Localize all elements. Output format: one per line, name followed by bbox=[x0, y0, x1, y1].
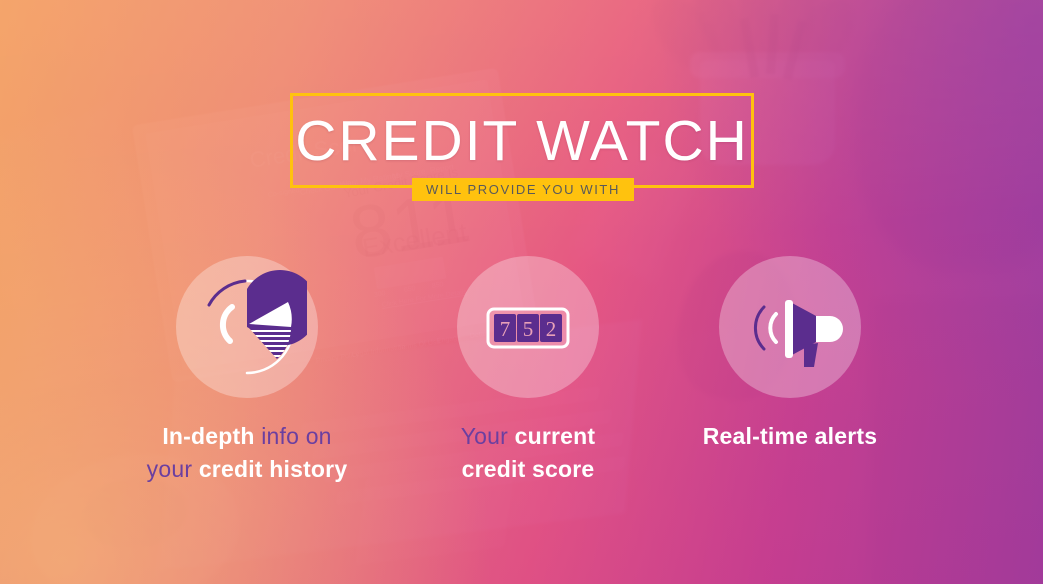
caption-regular-1: Your bbox=[461, 423, 508, 449]
feature-icon-circle bbox=[176, 256, 318, 398]
caption-bold-2: credit score bbox=[462, 456, 595, 482]
feature-caption: In-depth info on your credit history bbox=[147, 420, 348, 486]
slide-canvas: Credit Score Check Out Data Want My Rati… bbox=[0, 0, 1043, 584]
feature-caption: Your current credit score bbox=[461, 420, 596, 486]
subtitle-banner: WILL PROVIDE YOU WITH bbox=[412, 178, 634, 201]
score-counter-icon: 7 5 2 bbox=[468, 267, 588, 387]
feature-credit-score[interactable]: 7 5 2 Your current credit score bbox=[398, 256, 658, 486]
page-title: CREDIT WATCH bbox=[290, 93, 754, 188]
caption-bold-1: current bbox=[515, 423, 596, 449]
caption-regular-1: info on bbox=[261, 423, 331, 449]
score-digit-2: 5 bbox=[523, 317, 534, 341]
megaphone-icon bbox=[730, 267, 850, 387]
caption-bold-2: credit history bbox=[199, 456, 348, 482]
score-digit-3: 2 bbox=[546, 317, 557, 341]
feature-real-time-alerts[interactable]: Real-time alerts bbox=[660, 256, 920, 453]
score-digit-1: 7 bbox=[500, 317, 511, 341]
pie-chart-icon bbox=[187, 267, 307, 387]
caption-bold-1: In-depth bbox=[162, 423, 254, 449]
feature-credit-history[interactable]: In-depth info on your credit history bbox=[117, 256, 377, 486]
feature-icon-circle: 7 5 2 bbox=[457, 256, 599, 398]
caption-bold-1: Real-time alerts bbox=[703, 423, 878, 449]
caption-regular-2: your bbox=[147, 456, 193, 482]
feature-icon-circle bbox=[719, 256, 861, 398]
feature-caption: Real-time alerts bbox=[703, 420, 878, 453]
